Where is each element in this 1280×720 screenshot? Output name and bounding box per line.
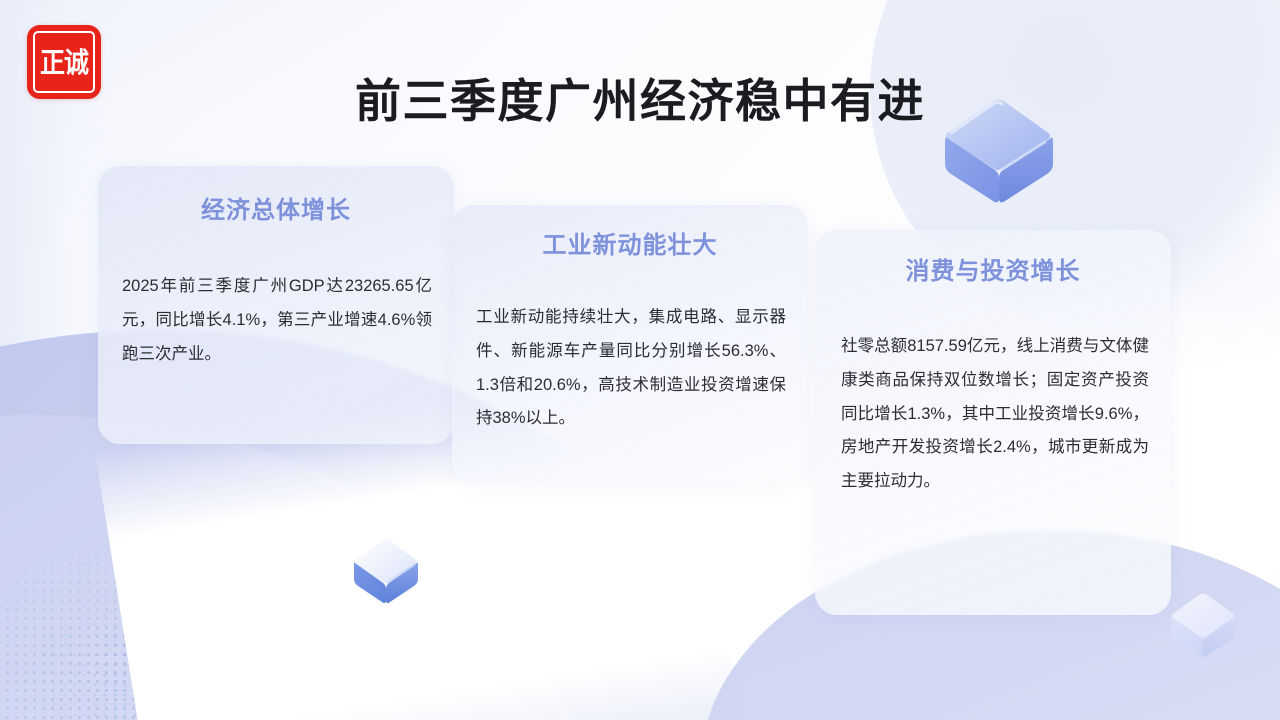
info-card-industrial-new-momentum: 工业新动能壮大 工业新动能持续壮大，集成电路、显示器件、新能源车产量同比分别增长…: [452, 205, 808, 483]
card-body-text: 2025年前三季度广州GDP达23265.65亿元，同比增长4.1%，第三产业增…: [122, 270, 432, 371]
info-card-economy-overall-growth: 经济总体增长 2025年前三季度广州GDP达23265.65亿元，同比增长4.1…: [98, 166, 454, 444]
card-body-text: 社零总额8157.59亿元，线上消费与文体健康类商品保持双位数增长；固定资产投资…: [841, 330, 1149, 499]
page-title: 前三季度广州经济稳中有进: [0, 74, 1280, 129]
card-heading: 经济总体增长: [98, 196, 454, 226]
background-halftone-dots: [0, 470, 410, 720]
cube-3d-icon: [1165, 588, 1241, 662]
card-body-text: 工业新动能持续壮大，集成电路、显示器件、新能源车产量同比分别增长56.3%、1.…: [476, 301, 786, 436]
card-heading: 消费与投资增长: [815, 257, 1171, 287]
cube-3d-icon: [348, 534, 424, 608]
logo-text: 正诚: [40, 48, 88, 76]
slide-canvas: 正诚 前三季度广州经济稳中有进 经济总体增长 2025年前三季度广州GDP达23…: [0, 0, 1280, 720]
card-heading: 工业新动能壮大: [452, 231, 808, 261]
info-card-consumption-investment-growth: 消费与投资增长 社零总额8157.59亿元，线上消费与文体健康类商品保持双位数增…: [815, 230, 1171, 615]
background-halftone-dots-inner: [40, 560, 370, 720]
